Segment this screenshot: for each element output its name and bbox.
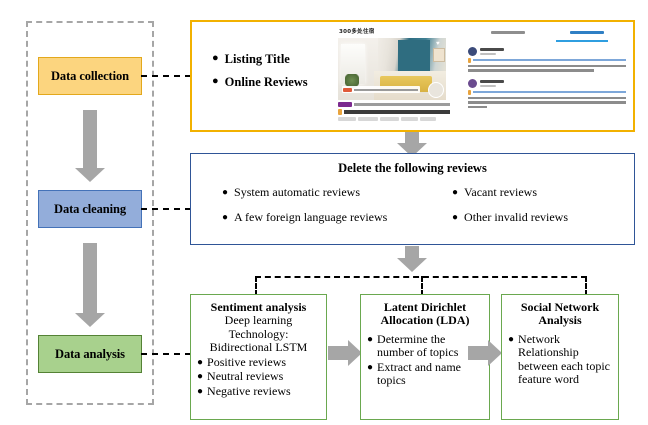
- analysis-box-title: Latent Dirichlet Allocation (LDA): [367, 301, 483, 328]
- bullet-icon: ●: [212, 75, 219, 89]
- reviewer-avatar: [468, 79, 477, 88]
- tab-reviews-count[interactable]: [570, 31, 604, 34]
- review-item: [468, 47, 626, 72]
- arrow-shaft: [405, 246, 419, 258]
- list-item-label: Positive reviews: [207, 356, 320, 369]
- dashed-connector-collection: [141, 75, 191, 77]
- bullet-icon: ●: [222, 186, 228, 199]
- review-item: [468, 79, 626, 109]
- down-arrow-icon-listing-to-cleaning-panel: [397, 131, 427, 153]
- bullet-icon: ●: [367, 361, 373, 375]
- list-item-label: Vacant reviews: [464, 186, 537, 199]
- review-date: [480, 53, 496, 55]
- listing-tag-row: [338, 117, 450, 121]
- stage-label-data-analysis: Data analysis: [55, 347, 125, 362]
- cleaning-left-column: ● System automatic reviews ● A few forei…: [222, 186, 387, 236]
- bullet-icon: ●: [452, 211, 458, 224]
- list-item-label: Negative reviews: [207, 385, 320, 398]
- photo-caption-overlay: [342, 86, 420, 93]
- list-item-label: Neutral reviews: [207, 370, 320, 383]
- analysis-box-social-network-analysis[interactable]: Social Network Analysis ● Network Relati…: [501, 294, 619, 420]
- list-item-label: A few foreign language reviews: [234, 211, 387, 224]
- listing-meta-row: [338, 102, 450, 107]
- listing-title-row: [338, 109, 450, 115]
- list-item-label: Other invalid reviews: [464, 211, 568, 224]
- arrow-head: [75, 313, 105, 327]
- award-icon: [338, 109, 342, 115]
- analysis-box-sentiment-analysis[interactable]: Sentiment analysis Deep learning Technol…: [190, 294, 327, 420]
- flowchart-root: Data collection Data cleaning Data analy…: [0, 0, 648, 425]
- listing-tag: [420, 117, 436, 121]
- reviewer-name: [480, 80, 504, 83]
- reviewer-avatar: [468, 47, 477, 56]
- listing-meta: [338, 102, 450, 121]
- list-item: ● System automatic reviews: [222, 186, 387, 199]
- tab-ratings[interactable]: [491, 31, 525, 34]
- bullet-icon: ●: [222, 211, 228, 224]
- listing-tag: [338, 117, 356, 121]
- review-line: [468, 101, 626, 104]
- review-header: [468, 47, 626, 56]
- list-item: ● Negative reviews: [197, 385, 320, 399]
- bullet-icon: ●: [197, 370, 203, 384]
- stage-label-data-collection: Data collection: [51, 69, 129, 84]
- analysis-box-subtitle-line: Bidirectional LSTM: [197, 341, 320, 354]
- review-body: [468, 97, 626, 109]
- caption-text: [354, 89, 418, 91]
- review-listing-link[interactable]: [468, 58, 626, 63]
- list-item: ● Determine the number of topics: [367, 333, 483, 360]
- stage-box-data-cleaning[interactable]: Data cleaning: [38, 190, 142, 228]
- down-arrow-icon-cleaning-panel-to-analysis: [397, 246, 427, 268]
- review-line: [468, 69, 594, 72]
- reviewer-meta: [480, 48, 504, 55]
- bullet-icon: ●: [197, 356, 203, 370]
- arrow-head: [488, 340, 502, 366]
- list-item-label: Network Relationship between each topic …: [518, 333, 612, 387]
- arrow-shaft: [405, 131, 419, 143]
- list-item-label: Listing Title: [225, 52, 290, 66]
- list-item: ● Other invalid reviews: [452, 211, 568, 224]
- analysis-box-title: Sentiment analysis: [197, 301, 320, 314]
- listing-title-text: [344, 110, 450, 114]
- reviews-tab-bar: [468, 27, 626, 38]
- reviewer-name: [480, 48, 504, 51]
- arrow-shaft: [468, 346, 488, 360]
- dashed-connector-analysis: [141, 353, 191, 355]
- listing-thumbnail-heading: 300多处住宿: [339, 27, 450, 35]
- analysis-box-subtitle-line: Deep learning: [197, 314, 320, 327]
- list-item-label: System automatic reviews: [234, 186, 360, 199]
- listing-link-text: [473, 59, 626, 62]
- review-line: [468, 65, 626, 68]
- bullet-icon: ●: [452, 186, 458, 199]
- right-arrow-icon-lda-to-sna: [468, 340, 502, 366]
- list-item: ● Online Reviews: [212, 75, 308, 89]
- photo-wall-art: [433, 48, 445, 62]
- bullet-icon: ●: [212, 52, 219, 66]
- review-body: [468, 65, 626, 72]
- cleaning-panel-title: Delete the following reviews: [190, 161, 635, 176]
- superhost-badge: [338, 102, 352, 107]
- list-item: ● Extract and name topics: [367, 361, 483, 388]
- stage-label-data-cleaning: Data cleaning: [54, 202, 126, 217]
- review-header: [468, 79, 626, 88]
- review-listing-link[interactable]: [468, 90, 626, 95]
- review-line: [468, 106, 487, 109]
- list-item: ● Vacant reviews: [452, 186, 568, 199]
- listing-icon: [468, 58, 471, 63]
- list-item: ● A few foreign language reviews: [222, 211, 387, 224]
- listing-screenshot-thumbnail: 300多处住宿 ♥: [338, 27, 450, 125]
- right-arrow-icon-sentiment-to-lda: [328, 340, 362, 366]
- dashed-connector-cleaning: [141, 208, 191, 210]
- bullet-icon: ●: [508, 333, 514, 347]
- cleaning-right-column: ● Vacant reviews ● Other invalid reviews: [452, 186, 568, 236]
- heart-icon[interactable]: ♥: [436, 41, 442, 47]
- bullet-icon: ●: [367, 333, 373, 347]
- reviews-screenshot-thumbnail: [468, 27, 626, 125]
- dashed-bracket-stem: [421, 276, 423, 296]
- reviewer-meta: [480, 80, 504, 87]
- listing-photo: ♥: [338, 38, 446, 100]
- listing-tag: [380, 117, 399, 121]
- list-item: ● Listing Title: [212, 52, 308, 66]
- photo-accent-wall: [398, 40, 430, 74]
- review-date: [480, 85, 496, 87]
- list-item: ● Neutral reviews: [197, 370, 320, 384]
- review-line: [468, 97, 626, 100]
- listing-tag: [401, 117, 418, 121]
- listing-icon: [468, 90, 471, 95]
- list-item: ● Positive reviews: [197, 356, 320, 370]
- host-avatar: [428, 82, 444, 98]
- collection-bullet-list: ● Listing Title ● Online Reviews: [212, 52, 308, 99]
- arrow-shaft: [83, 110, 97, 168]
- stage-box-data-collection[interactable]: Data collection: [38, 57, 142, 95]
- arrow-shaft: [83, 243, 97, 313]
- listing-meta-text: [354, 103, 450, 106]
- listing-tag: [358, 117, 378, 121]
- active-tab-underline: [556, 40, 608, 42]
- down-arrow-icon-cleaning-to-analysis: [75, 243, 105, 327]
- analysis-box-title: Social Network Analysis: [508, 301, 612, 328]
- caption-badge: [343, 88, 352, 92]
- analysis-box-subtitle-line: Technology:: [197, 328, 320, 341]
- down-arrow-icon-collection-to-cleaning: [75, 110, 105, 182]
- bullet-icon: ●: [197, 385, 203, 399]
- arrow-shaft: [328, 346, 348, 360]
- stage-box-data-analysis[interactable]: Data analysis: [38, 335, 142, 373]
- list-item-label: Online Reviews: [225, 75, 308, 89]
- listing-link-text: [473, 91, 626, 94]
- arrow-head: [397, 258, 427, 272]
- arrow-head: [75, 168, 105, 182]
- list-item: ● Network Relationship between each topi…: [508, 333, 612, 387]
